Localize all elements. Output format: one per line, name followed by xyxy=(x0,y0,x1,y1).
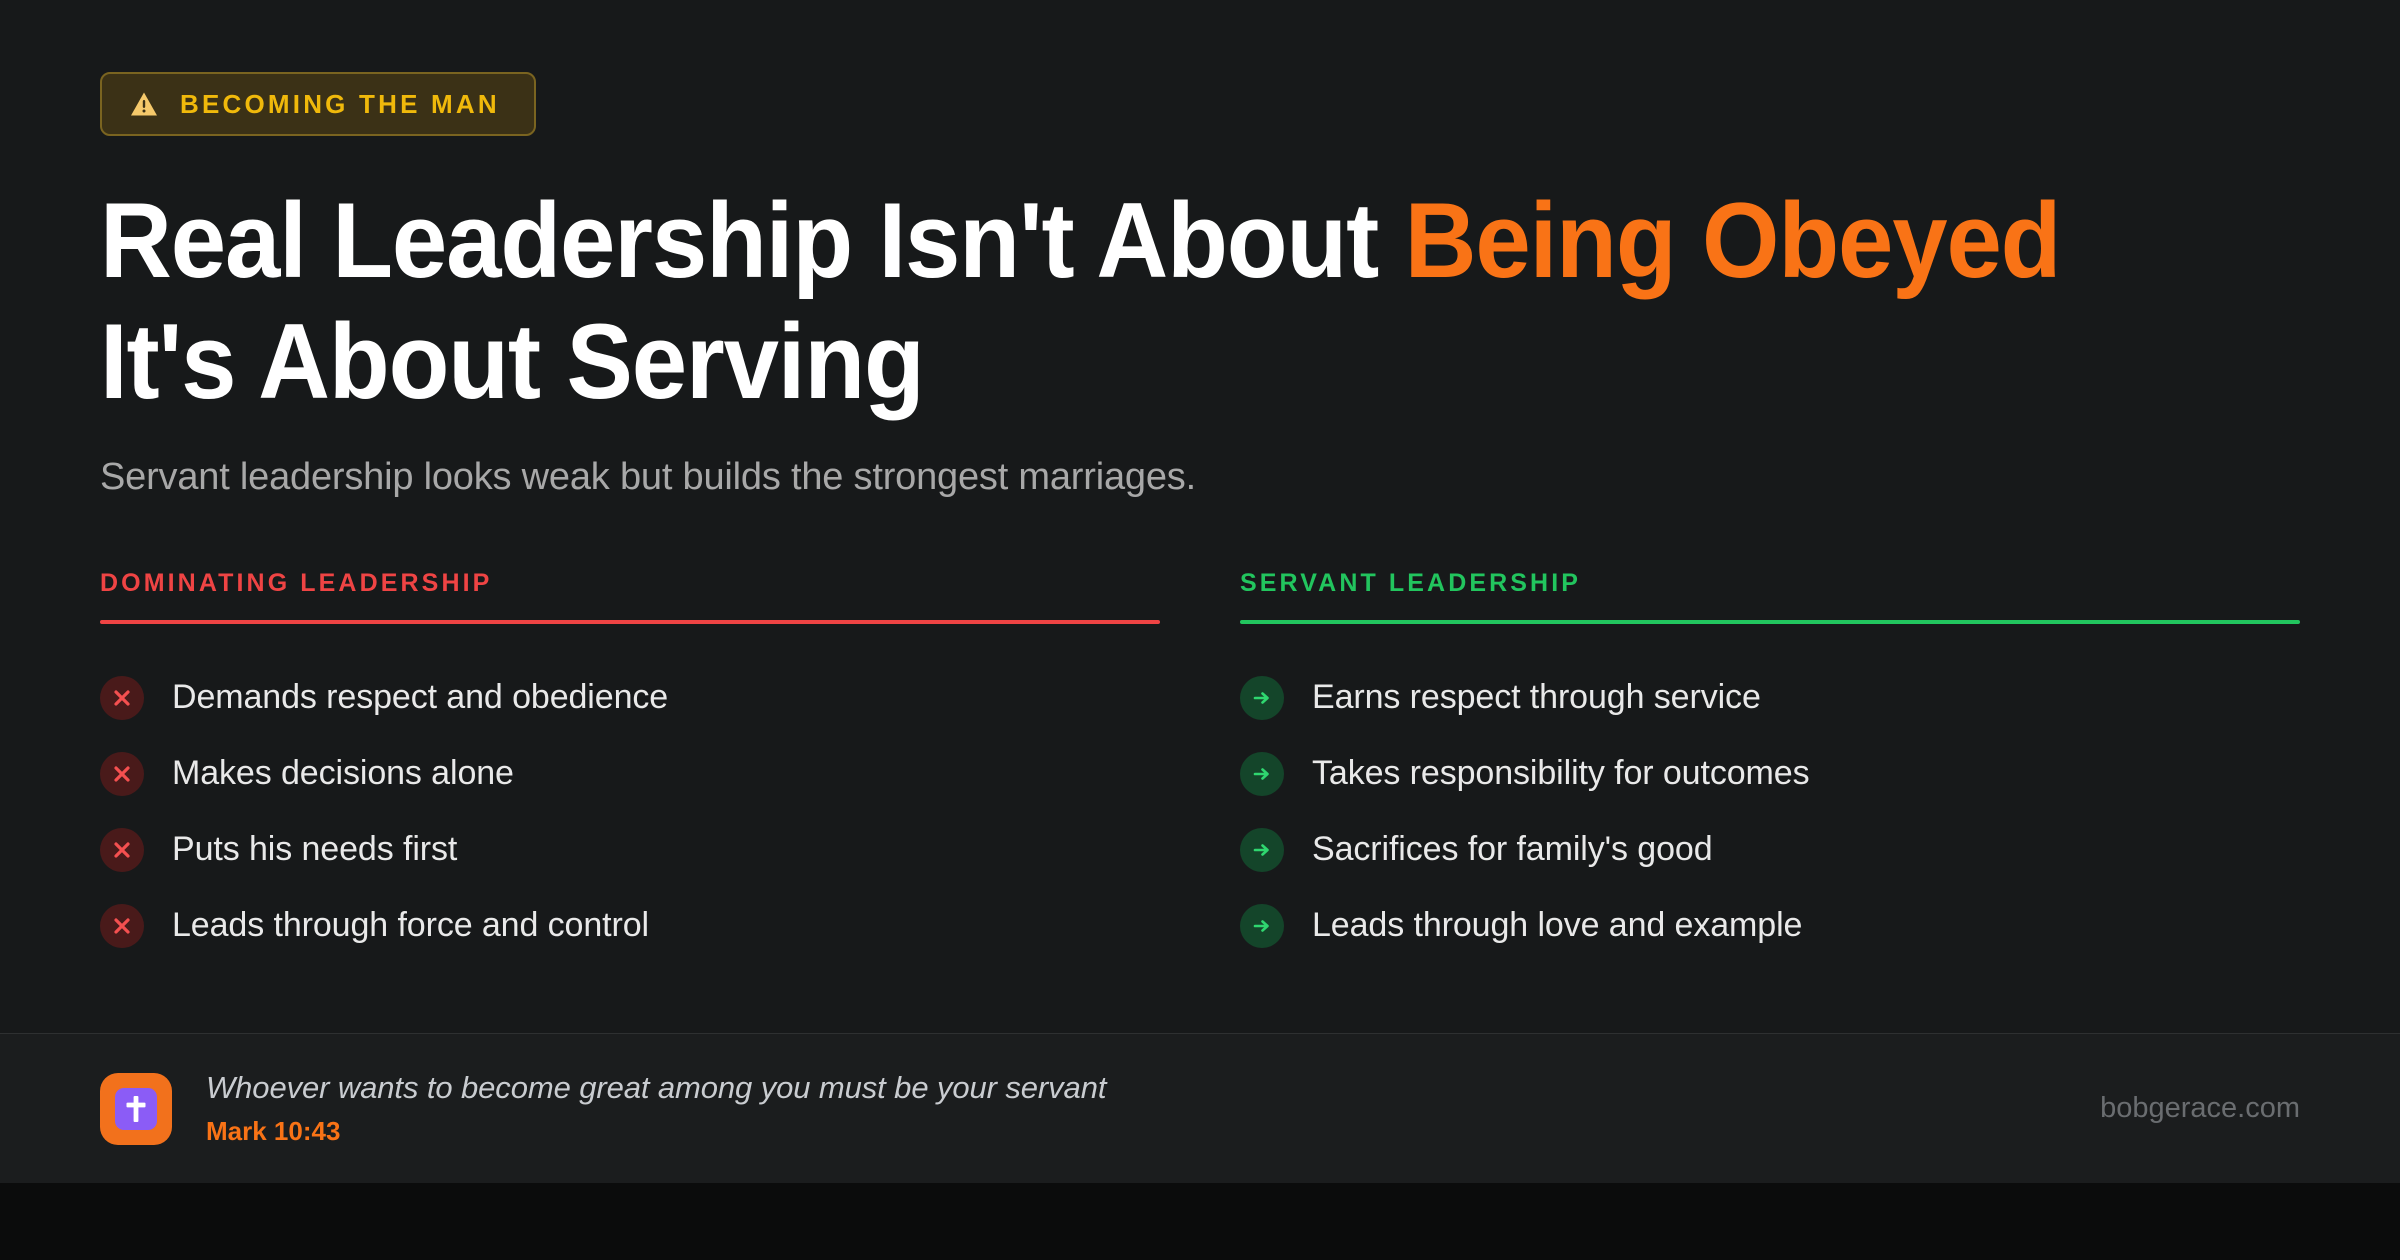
x-circle-icon xyxy=(100,676,144,720)
warning-triangle-icon xyxy=(130,91,158,117)
page-subtitle: Servant leadership looks weak but builds… xyxy=(100,456,2300,499)
headline-line1-accent: Being Obeyed xyxy=(1405,180,2061,300)
list-item: Takes responsibility for outcomes xyxy=(1240,736,2300,812)
arrow-right-circle-icon xyxy=(1240,828,1284,872)
scripture-footer: Whoever wants to become great among you … xyxy=(0,1033,2400,1183)
category-badge: BECOMING THE MAN xyxy=(100,72,536,136)
scripture-quote-block: Whoever wants to become great among you … xyxy=(206,1070,1106,1147)
headline-line1-plain: Real Leadership Isn't About xyxy=(100,180,1405,300)
list-item-label: Leads through love and example xyxy=(1312,906,1802,945)
list-item-label: Takes responsibility for outcomes xyxy=(1312,754,1809,793)
list-servant: Earns respect through service Takes resp… xyxy=(1240,660,2300,964)
category-badge-label: BECOMING THE MAN xyxy=(180,91,500,117)
main-content: BECOMING THE MAN Real Leadership Isn't A… xyxy=(0,0,2400,964)
list-item: Leads through force and control xyxy=(100,888,1160,964)
comparison-columns: DOMINATING LEADERSHIP Demands respect an… xyxy=(100,571,2300,964)
list-item: Makes decisions alone xyxy=(100,736,1160,812)
list-item: Sacrifices for family's good xyxy=(1240,812,2300,888)
list-dominating: Demands respect and obedience Makes deci… xyxy=(100,660,1160,964)
column-dominating-leadership: DOMINATING LEADERSHIP Demands respect an… xyxy=(100,571,1160,964)
list-item: Demands respect and obedience xyxy=(100,660,1160,736)
x-circle-icon xyxy=(100,752,144,796)
arrow-right-circle-icon xyxy=(1240,676,1284,720)
arrow-right-circle-icon xyxy=(1240,752,1284,796)
list-item-label: Leads through force and control xyxy=(172,906,649,945)
cross-icon-inner xyxy=(115,1088,157,1130)
column-servant-leadership: SERVANT LEADERSHIP Earns respect through… xyxy=(1240,571,2300,964)
list-item: Earns respect through service xyxy=(1240,660,2300,736)
column-divider-green xyxy=(1240,620,2300,624)
column-heading-dominating: DOMINATING LEADERSHIP xyxy=(100,571,1160,596)
headline-line2: It's About Serving xyxy=(100,301,924,421)
x-circle-icon xyxy=(100,828,144,872)
list-item: Leads through love and example xyxy=(1240,888,2300,964)
list-item: Puts his needs first xyxy=(100,812,1160,888)
column-heading-servant: SERVANT LEADERSHIP xyxy=(1240,571,2300,596)
list-item-label: Puts his needs first xyxy=(172,830,457,869)
page-title: Real Leadership Isn't About Being Obeyed… xyxy=(100,180,2146,422)
list-item-label: Makes decisions alone xyxy=(172,754,514,793)
arrow-right-circle-icon xyxy=(1240,904,1284,948)
list-item-label: Demands respect and obedience xyxy=(172,678,668,717)
list-item-label: Sacrifices for family's good xyxy=(1312,830,1713,869)
column-divider-red xyxy=(100,620,1160,624)
scripture-reference: Mark 10:43 xyxy=(206,1116,1106,1147)
list-item-label: Earns respect through service xyxy=(1312,678,1761,717)
site-url: bobgerace.com xyxy=(2100,1092,2300,1125)
slide-canvas: BECOMING THE MAN Real Leadership Isn't A… xyxy=(0,0,2400,1260)
x-circle-icon xyxy=(100,904,144,948)
cross-icon xyxy=(100,1073,172,1145)
bottom-band xyxy=(0,1183,2400,1260)
scripture-quote-text: Whoever wants to become great among you … xyxy=(206,1070,1106,1106)
